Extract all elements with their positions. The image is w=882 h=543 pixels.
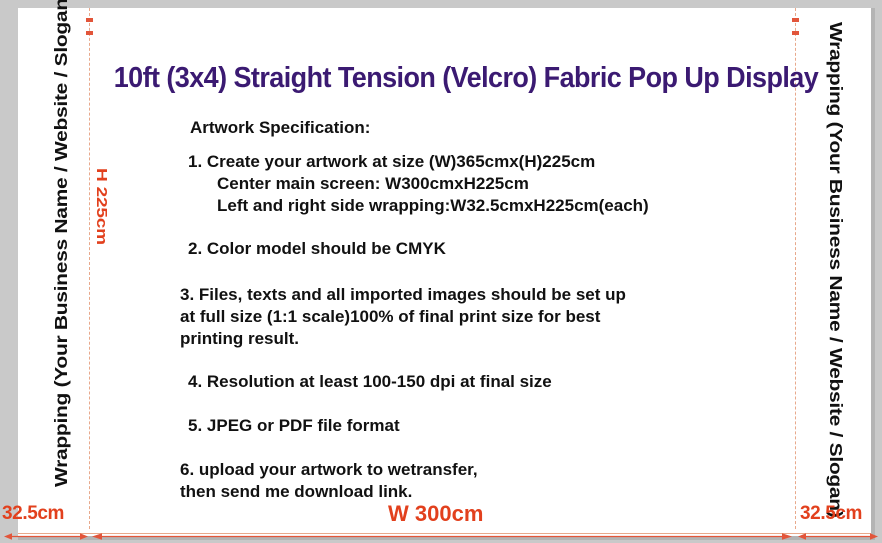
guide-tick-right-upper [792, 18, 799, 22]
spacer-2 [176, 260, 776, 284]
spec-item-6-sub1: then send me download link. [180, 481, 776, 503]
spec-item-5-main: 5. JPEG or PDF file format [188, 416, 400, 435]
guide-tick-left-upper [86, 18, 93, 22]
spacer-3 [176, 349, 776, 371]
page-title: 10ft (3x4) Straight Tension (Velcro) Fab… [114, 62, 771, 95]
left-width-dimension-label: 32.5cm [2, 503, 64, 525]
spacer-1 [176, 216, 776, 238]
spec-item-4: 4. Resolution at least 100-150 dpi at fi… [176, 371, 776, 393]
right-wrapping-label: Wrapping (Your Business Name / Website /… [825, 22, 845, 518]
artwork-template-canvas: Wrapping (Your Business Name / Website /… [0, 0, 882, 543]
spec-item-6: 6. upload your artwork to wetransfer, th… [176, 459, 776, 503]
spec-item-1-sub2: Left and right side wrapping:W32.5cmxH22… [188, 195, 776, 217]
guide-line-left [89, 8, 90, 529]
spec-heading: Artwork Specification: [190, 118, 776, 138]
height-dimension-label: H 225cm [92, 168, 110, 245]
spec-item-3-sub1: at full size (1:1 scale)100% of final pr… [180, 306, 776, 328]
center-width-dimension-label: W 300cm [388, 501, 483, 527]
right-width-arrow [798, 528, 878, 537]
guide-tick-right-lower [792, 31, 799, 35]
spec-item-5: 5. JPEG or PDF file format [176, 415, 776, 437]
spacer-4 [176, 393, 776, 415]
spec-item-2-main: 2. Color model should be CMYK [188, 239, 446, 258]
artwork-specification-block: Artwork Specification: 1. Create your ar… [176, 118, 776, 502]
spec-item-4-main: 4. Resolution at least 100-150 dpi at fi… [188, 372, 552, 391]
spec-item-2: 2. Color model should be CMYK [176, 238, 776, 260]
center-width-arrow [92, 528, 792, 537]
right-width-dimension-label: 32.5cm [800, 503, 862, 525]
spec-item-3-sub2: printing result. [180, 328, 776, 350]
spec-item-3-main: 3. Files, texts and all imported images … [180, 285, 626, 304]
artboard-edge-shadow-right [871, 8, 875, 536]
spec-item-6-main: 6. upload your artwork to wetransfer, [180, 460, 478, 479]
spacer-5 [176, 437, 776, 459]
left-wrapping-label: Wrapping (Your Business Name / Website /… [52, 0, 72, 487]
guide-tick-left-lower [86, 31, 93, 35]
spec-item-3: 3. Files, texts and all imported images … [176, 284, 776, 349]
spec-item-1: 1. Create your artwork at size (W)365cmx… [176, 151, 776, 216]
left-width-arrow [4, 528, 88, 537]
spec-item-1-main: 1. Create your artwork at size (W)365cmx… [188, 152, 595, 171]
spec-item-1-sub1: Center main screen: W300cmxH225cm [188, 173, 776, 195]
